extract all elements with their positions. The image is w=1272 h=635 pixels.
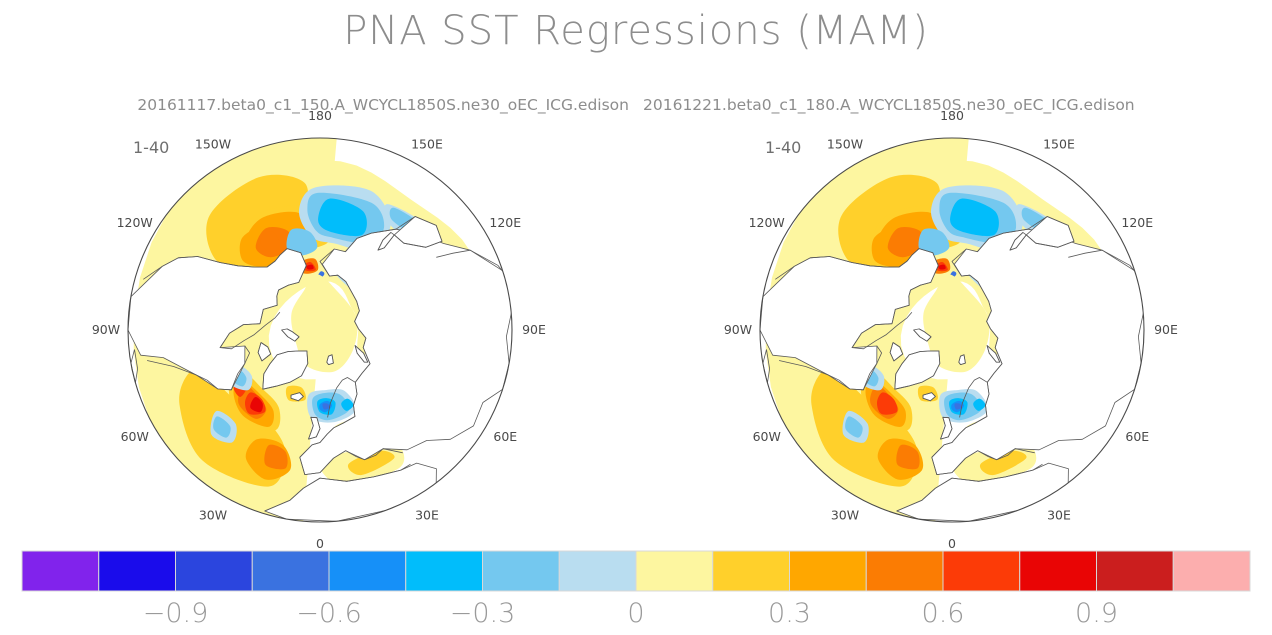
colorbar-swatch xyxy=(406,551,483,591)
colorbar-swatch xyxy=(1173,551,1250,591)
colorbar-swatch xyxy=(22,551,99,591)
longitude-label: 180 xyxy=(940,108,964,123)
map-panel: 030E60E90E120E150E180150W120W90W60W30W xyxy=(92,108,546,551)
longitude-label: 120W xyxy=(117,215,153,230)
longitude-label: 90W xyxy=(92,322,120,337)
longitude-label: 90E xyxy=(1154,322,1178,337)
colorbar-swatch xyxy=(636,551,713,591)
longitude-label: 90E xyxy=(522,322,546,337)
colorbar-swatch xyxy=(483,551,560,591)
longitude-label: 180 xyxy=(308,108,332,123)
longitude-label: 120E xyxy=(1121,215,1153,230)
longitude-label: 150W xyxy=(827,137,863,152)
colorbar-tick-label: 0.3 xyxy=(768,598,811,629)
colorbar-swatch xyxy=(176,551,253,591)
colorbar-swatch xyxy=(866,551,943,591)
colorbar-swatch xyxy=(1020,551,1097,591)
map-panel: 030E60E90E120E150E180150W120W90W60W30W xyxy=(724,108,1178,551)
colorbar-tick-label: −0.9 xyxy=(143,598,209,629)
longitude-label: 30W xyxy=(831,507,859,522)
colorbar-swatch xyxy=(329,551,406,591)
colorbar-swatch xyxy=(99,551,176,591)
colorbar-tick-label: −0.6 xyxy=(296,598,362,629)
colorbar-swatch xyxy=(713,551,790,591)
longitude-label: 120E xyxy=(489,215,521,230)
map-panels: 030E60E90E120E150E180150W120W90W60W30W03… xyxy=(0,0,1272,635)
longitude-label: 30E xyxy=(1047,507,1071,522)
longitude-label: 0 xyxy=(948,536,956,551)
longitude-label: 60W xyxy=(753,429,781,444)
longitude-label: 60E xyxy=(493,429,517,444)
colorbar-swatch xyxy=(559,551,636,591)
colorbar-tick-label: 0.6 xyxy=(922,598,965,629)
colorbar-swatch xyxy=(1097,551,1174,591)
figure-root: PNA SST Regressions (MAM) 20161117.beta0… xyxy=(0,0,1272,635)
colorbar-swatch xyxy=(790,551,867,591)
longitude-label: 30W xyxy=(199,507,227,522)
colorbar-swatch xyxy=(943,551,1020,591)
longitude-label: 150W xyxy=(195,137,231,152)
longitude-label: 30E xyxy=(415,507,439,522)
colorbar xyxy=(0,550,1272,600)
longitude-label: 0 xyxy=(316,536,324,551)
longitude-label: 150E xyxy=(1043,137,1075,152)
longitude-label: 60E xyxy=(1125,429,1149,444)
longitude-label: 90W xyxy=(724,322,752,337)
longitude-label: 60W xyxy=(121,429,149,444)
colorbar-tick-label: 0.9 xyxy=(1075,598,1118,629)
longitude-label: 120W xyxy=(749,215,785,230)
colorbar-tick-label: 0 xyxy=(627,598,644,629)
longitude-label: 150E xyxy=(411,137,443,152)
colorbar-tick-label: −0.3 xyxy=(450,598,516,629)
colorbar-swatch xyxy=(252,551,329,591)
